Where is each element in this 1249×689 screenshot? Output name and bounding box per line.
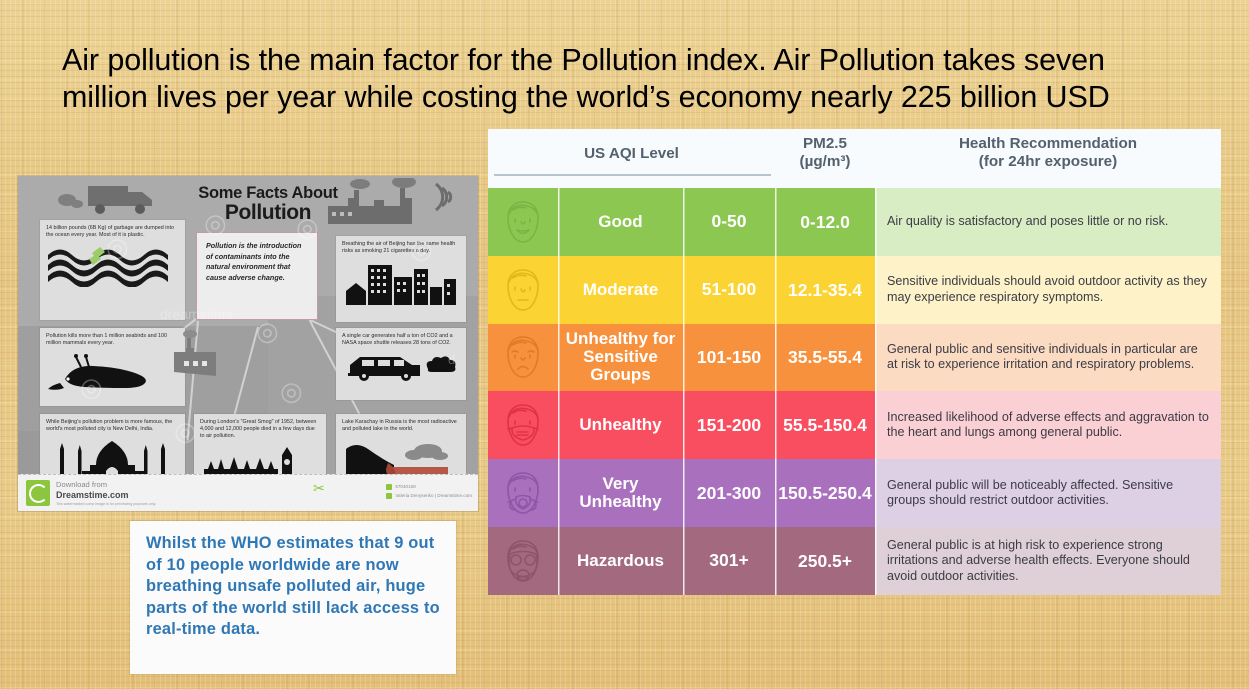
truck-icon [56,180,166,216]
ocean-waves-icon [40,241,185,287]
table-row: Hazardous301+250.5+General public is at … [488,527,1221,595]
aqi-face-icon-smiling [488,188,558,256]
credit-chip-icon [386,493,392,499]
fact-card-car-co2: A single car generates half a ton of CO2… [336,328,466,400]
aqi-range-value: 101-150 [683,324,775,392]
aqi-range-value: 201-300 [683,459,775,527]
aqi-level-name: Unhealthy [558,391,683,459]
who-statistic-box: Whilst the WHO estimates that 9 out of 1… [130,521,456,674]
header-pm25: PM2.5 (µg/m³) [775,135,875,170]
health-recommendation-text: General public and sensitive individuals… [875,324,1221,392]
aqi-level-name: Moderate [558,256,683,324]
infographic-title: Some Facts About Pollution [178,184,358,223]
health-recommendation-text: Sensitive individuals should avoid outdo… [875,256,1221,324]
page-title: Air pollution is the main factor for the… [62,42,1172,116]
table-row: Unhealthy for Sensitive Groups101-15035.… [488,324,1221,392]
dead-bird-icon [40,349,185,393]
aqi-level-name: Very Unhealthy [558,459,683,527]
pm25-range-value: 150.5-250.4 [775,459,875,527]
fact-card-ocean-garbage: 14 billion pounds (6B Kg) of garbage are… [40,220,185,320]
aqi-range-value: 0-50 [683,188,775,256]
header-us-aqi-level: US AQI Level [488,145,775,163]
aqi-level-name: Unhealthy for Sensitive Groups [558,324,683,392]
dreamstime-footer: Download from Dreamstime.com This waterm… [18,474,478,511]
pm25-range-value: 0-12.0 [775,188,875,256]
aqi-face-icon-gasmask [488,527,558,595]
fact-card-beijing-air: Breathing the air of Beijing has the sam… [336,236,466,322]
aqi-table-body: Good0-500-12.0Air quality is satisfactor… [488,188,1221,595]
header-health-recommendation: Health Recommendation (for 24hr exposure… [875,135,1221,170]
dreamstime-logo-icon [26,480,50,506]
city-buildings-icon [336,257,466,307]
pm25-range-value: 250.5+ [775,527,875,595]
aqi-range-value: 51-100 [683,256,775,324]
pm25-range-value: 12.1-35.4 [775,256,875,324]
aqi-table-header: US AQI Level PM2.5 (µg/m³) Health Recomm… [488,129,1221,188]
table-row: Moderate51-10012.1-35.4Sensitive individ… [488,256,1221,324]
id-chip-icon [386,484,392,490]
aqi-range-value: 151-200 [683,391,775,459]
fact-card-seabirds: Pollution kills more than 1 million seab… [40,328,185,406]
who-statistic-text: Whilst the WHO estimates that 9 out of 1… [130,521,456,641]
dreamstime-footer-text: Download from Dreamstime.com This waterm… [56,480,156,507]
small-factory-icon [168,328,226,380]
table-row: Very Unhealthy201-300150.5-250.4General … [488,459,1221,527]
aqi-face-icon-neutral [488,256,558,324]
us-aqi-level-table: US AQI Level PM2.5 (µg/m³) Health Recomm… [488,129,1221,595]
pm25-range-value: 55.5-150.4 [775,391,875,459]
health-recommendation-text: Air quality is satisfactory and poses li… [875,188,1221,256]
aqi-range-value: 301+ [683,527,775,595]
table-row: Good0-500-12.0Air quality is satisfactor… [488,188,1221,256]
health-recommendation-text: General public will be noticeably affect… [875,459,1221,527]
aqi-face-icon-mask [488,391,558,459]
pollution-facts-infographic: Some Facts About Pollution 14 billion po… [18,176,478,511]
aqi-face-icon-sad [488,324,558,392]
table-row: Unhealthy151-20055.5-150.4Increased like… [488,391,1221,459]
pm25-range-value: 35.5-55.4 [775,324,875,392]
health-recommendation-text: Increased likelihood of adverse effects … [875,391,1221,459]
pollution-definition-card: Pollution is the introduction of contami… [196,232,318,320]
aqi-level-name: Good [558,188,683,256]
aqi-face-icon-respirator [488,459,558,527]
dreamstime-credit: 57040168 Valeria Denysenko | Dreamstime.… [386,482,472,500]
car-exhaust-icon [336,349,466,385]
scissors-icon: ✂ [313,481,325,495]
aqi-level-name: Hazardous [558,527,683,595]
health-recommendation-text: General public is at high risk to experi… [875,527,1221,595]
